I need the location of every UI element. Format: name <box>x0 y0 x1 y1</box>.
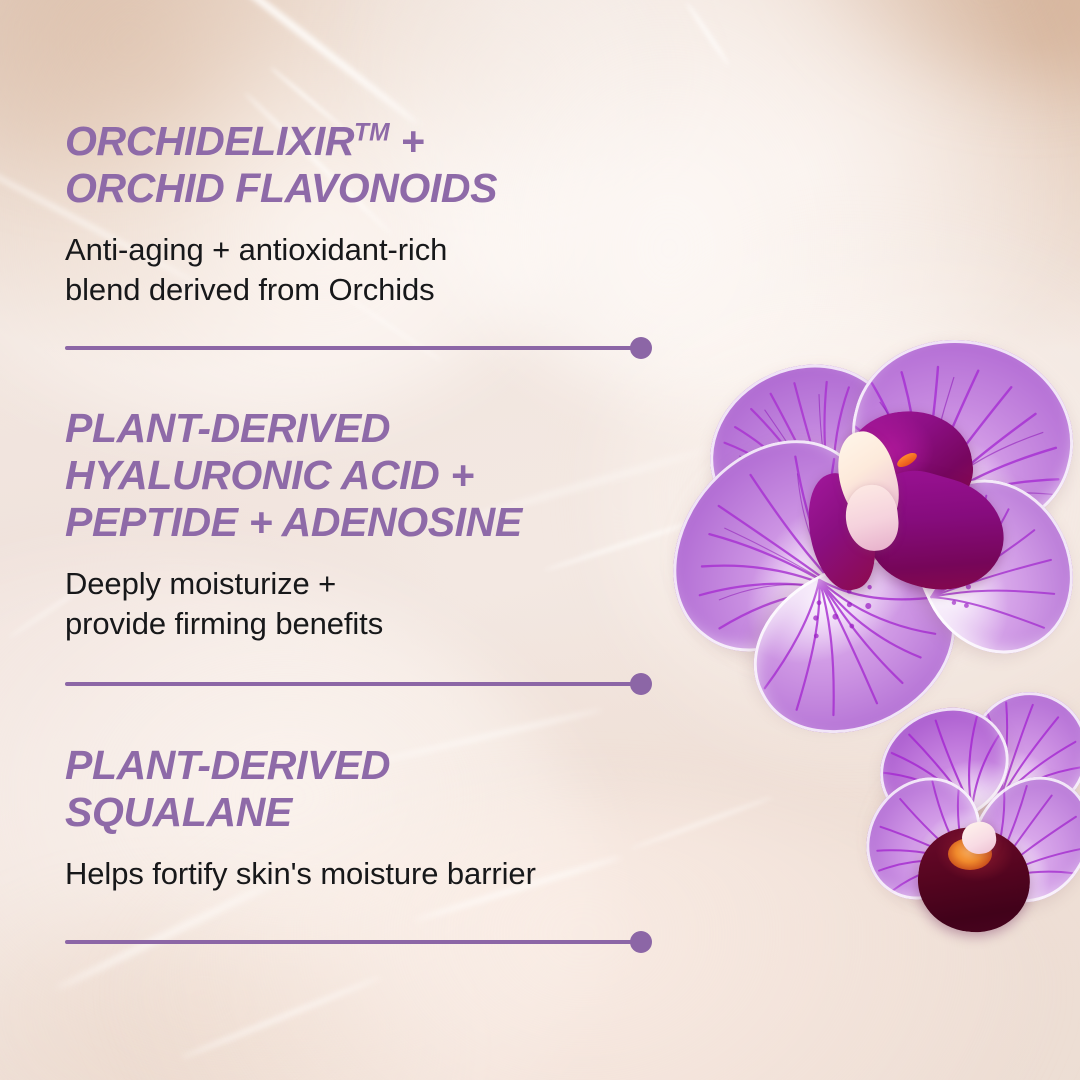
ingredient-description: Deeply moisturize + provide firming bene… <box>65 564 522 644</box>
ingredient-callout-list: ORCHIDELIXIRTM + ORCHID FLAVONOIDS Anti-… <box>0 0 1080 1080</box>
ingredient-block: PLANT-DERIVED HYALURONIC ACID + PEPTIDE … <box>65 405 522 644</box>
ingredient-description: Helps fortify skin's moisture barrier <box>65 854 536 894</box>
section-divider <box>65 341 648 355</box>
trademark-symbol: TM <box>354 119 390 146</box>
ingredient-block: PLANT-DERIVED SQUALANE Helps fortify ski… <box>65 742 536 894</box>
divider-dot-icon <box>630 673 652 695</box>
ingredient-headline: ORCHIDELIXIRTM + ORCHID FLAVONOIDS <box>65 118 497 212</box>
ingredient-headline: PLANT-DERIVED SQUALANE <box>65 742 536 836</box>
ingredient-headline-text: ORCHIDELIXIR <box>65 118 354 164</box>
section-divider <box>65 677 648 691</box>
divider-line <box>65 682 648 686</box>
ingredient-block: ORCHIDELIXIRTM + ORCHID FLAVONOIDS Anti-… <box>65 118 497 310</box>
divider-line <box>65 346 648 350</box>
divider-dot-icon <box>630 337 652 359</box>
ingredient-description: Anti-aging + antioxidant-rich blend deri… <box>65 230 497 310</box>
divider-dot-icon <box>630 931 652 953</box>
section-divider <box>65 935 648 949</box>
divider-line <box>65 940 648 944</box>
ingredient-headline: PLANT-DERIVED HYALURONIC ACID + PEPTIDE … <box>65 405 522 546</box>
